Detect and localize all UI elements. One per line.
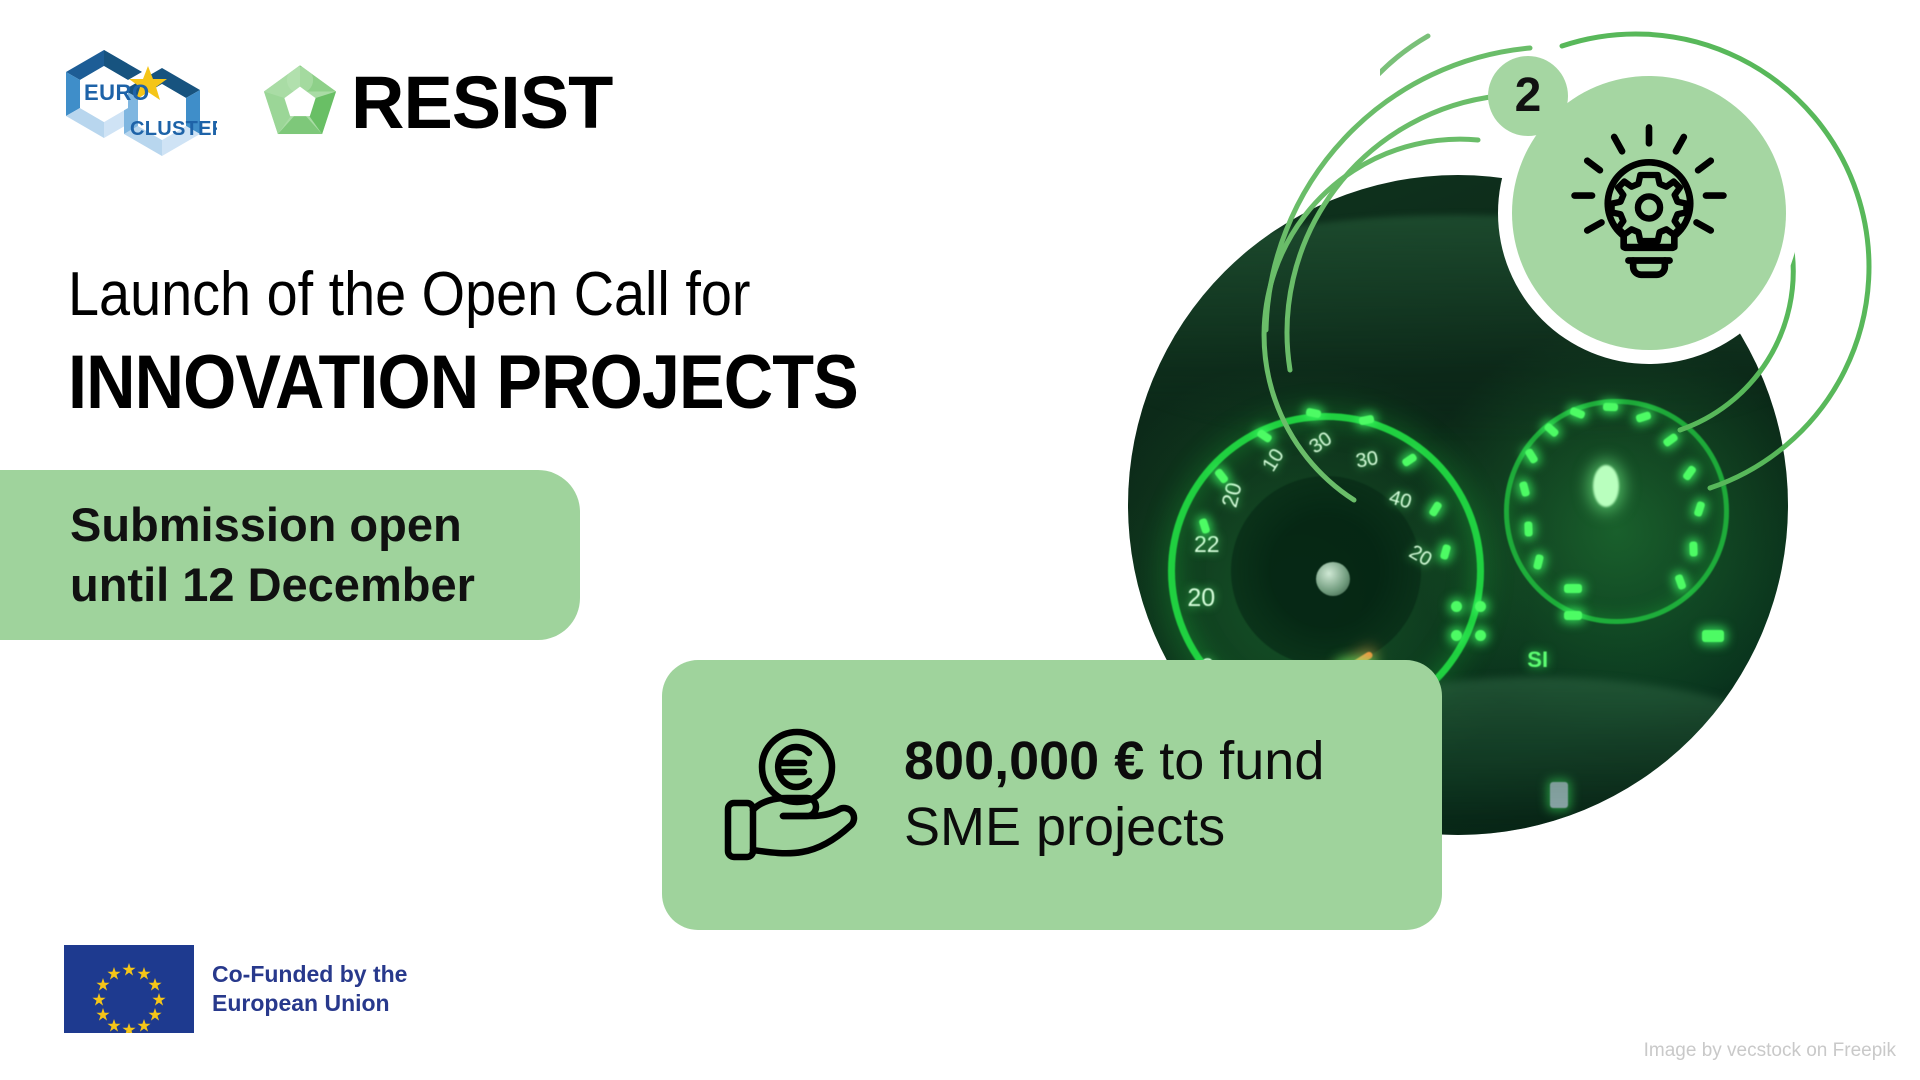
euroclusters-word-clusters: CLUSTERS (130, 118, 217, 140)
eu-cofunding-logo: Co-Funded by the European Union (64, 945, 407, 1033)
indicator-light (1475, 601, 1486, 612)
euro-clusters-logo: EURO CLUSTERS (52, 38, 217, 168)
image-credit: Image by vecstock on Freepik (1644, 1040, 1896, 1062)
indicator-light (1564, 584, 1582, 593)
submission-deadline-text: Submission open until 12 December (70, 495, 540, 615)
resist-pentagon-icon (259, 62, 341, 144)
indicator-light (1564, 611, 1582, 620)
step-number-value: 2 (1515, 72, 1542, 120)
step-number-badge: 2 (1488, 56, 1568, 136)
speedometer-hub (1316, 562, 1350, 596)
resist-wordmark: RESIST (351, 66, 612, 140)
funding-amount: 800,000 € (904, 731, 1144, 791)
eu-flag-icon (64, 945, 194, 1033)
banner-canvas: EURO CLUSTERS (0, 0, 1920, 1080)
indicator-light (1702, 630, 1724, 642)
tach-tick (1689, 541, 1698, 556)
submission-banner: Submission open until 12 December (0, 470, 580, 640)
tach-tick (1603, 402, 1618, 411)
indicator-light (1475, 630, 1486, 641)
tach-tick (1524, 521, 1533, 536)
resist-logo: RESIST (259, 62, 612, 144)
euroclusters-word-euro: EURO (84, 80, 150, 105)
headline-block: Launch of the Open Call for INNOVATION P… (68, 262, 1108, 425)
headline-title: INNOVATION PROJECTS (68, 341, 1004, 425)
dashboard-mini-indicator: SI (1527, 647, 1548, 673)
gauge-label: 30 (1354, 447, 1380, 474)
eu-cofunding-text: Co-Funded by the European Union (212, 960, 407, 1019)
logo-bar: EURO CLUSTERS (52, 38, 612, 168)
gauge-label: 22 (1194, 531, 1220, 558)
headline-subtitle: Launch of the Open Call for (68, 262, 1004, 329)
euro-in-hand-icon (720, 725, 870, 865)
lightbulb-gear-icon (1554, 118, 1744, 308)
funding-text: 800,000 € to fund SME projects (904, 729, 1402, 861)
gauge-label: 20 (1187, 584, 1215, 613)
funding-card: 800,000 € to fund SME projects (662, 660, 1442, 930)
